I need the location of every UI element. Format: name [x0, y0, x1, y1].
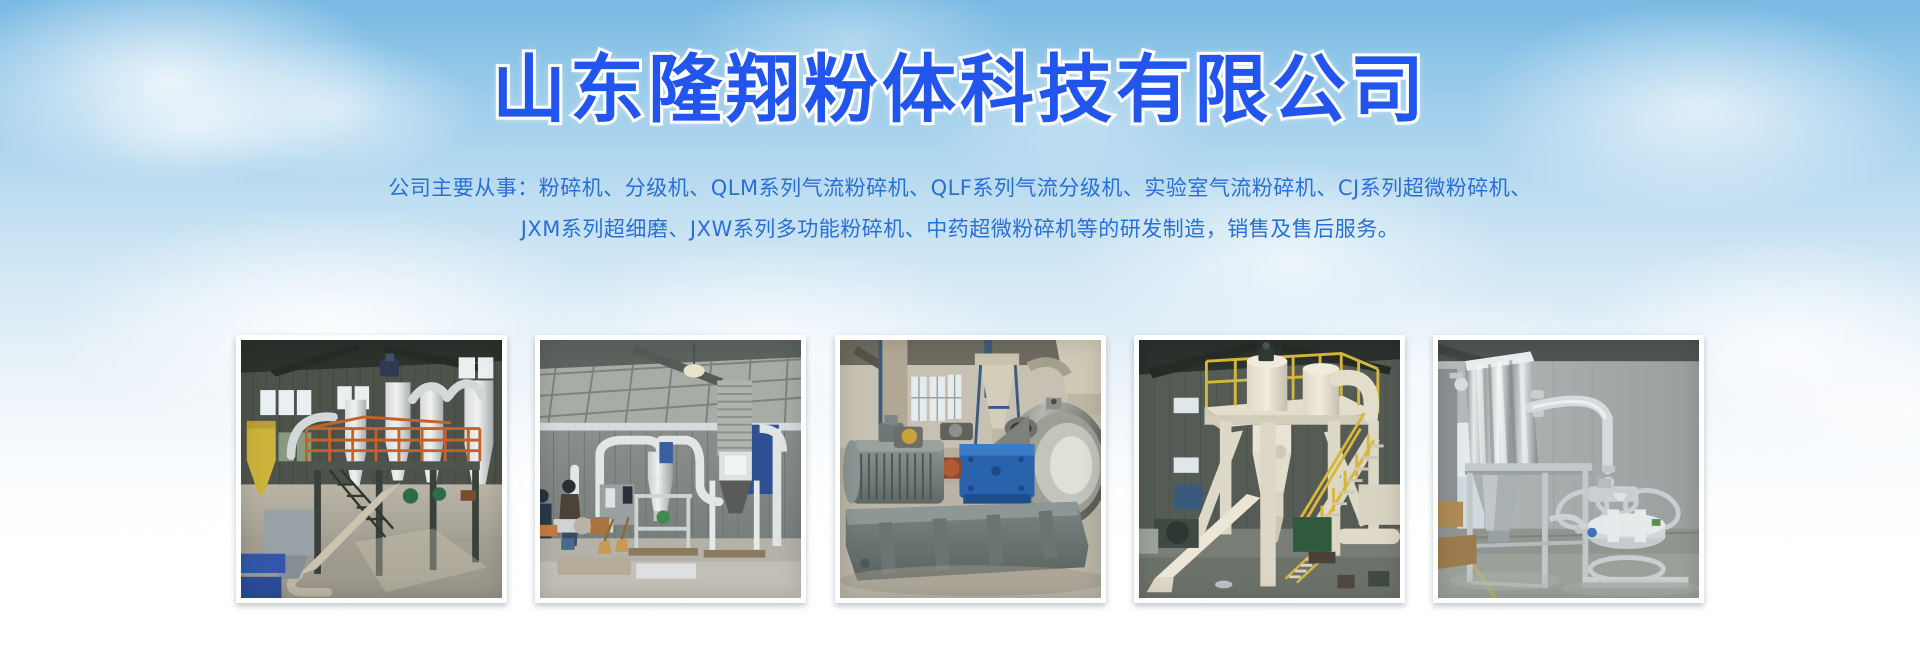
product-photo-strip: [236, 335, 1704, 603]
company-name-heading: 山东隆翔粉体科技有限公司: [492, 52, 1428, 130]
product-photo-blower-motor-assembly[interactable]: [835, 335, 1106, 603]
cloud-shape: [1700, 300, 1920, 520]
product-photo-jet-mill-production-line[interactable]: [236, 335, 507, 603]
product-photo-classifier-platform-stairs[interactable]: [1134, 335, 1405, 603]
company-hero-banner: 山东隆翔粉体科技有限公司 公司主要从事：粉碎机、分级机、QLM系列气流粉碎机、Q…: [0, 0, 1920, 667]
description-line-1: 公司主要从事：粉碎机、分级机、QLM系列气流粉碎机、QLF系列气流分级机、实验室…: [0, 168, 1920, 209]
workshop-cyclone-pipeline-illustration: [540, 340, 801, 598]
description-line-2: JXM系列超细磨、JXW系列多功能粉碎机、中药超微粉碎机等的研发制造，销售及售后…: [0, 209, 1920, 250]
lab-stainless-jet-mill-illustration: [1438, 340, 1699, 598]
company-description: 公司主要从事：粉碎机、分级机、QLM系列气流粉碎机、QLF系列气流分级机、实验室…: [0, 168, 1920, 250]
page-title: 山东隆翔粉体科技有限公司: [0, 52, 1920, 130]
blower-motor-assembly-illustration: [840, 340, 1101, 598]
jet-mill-production-line-illustration: [241, 340, 502, 598]
product-photo-lab-stainless-jet-mill[interactable]: [1433, 335, 1704, 603]
product-photo-workshop-cyclone-pipeline[interactable]: [535, 335, 806, 603]
classifier-platform-stairs-illustration: [1139, 340, 1400, 598]
